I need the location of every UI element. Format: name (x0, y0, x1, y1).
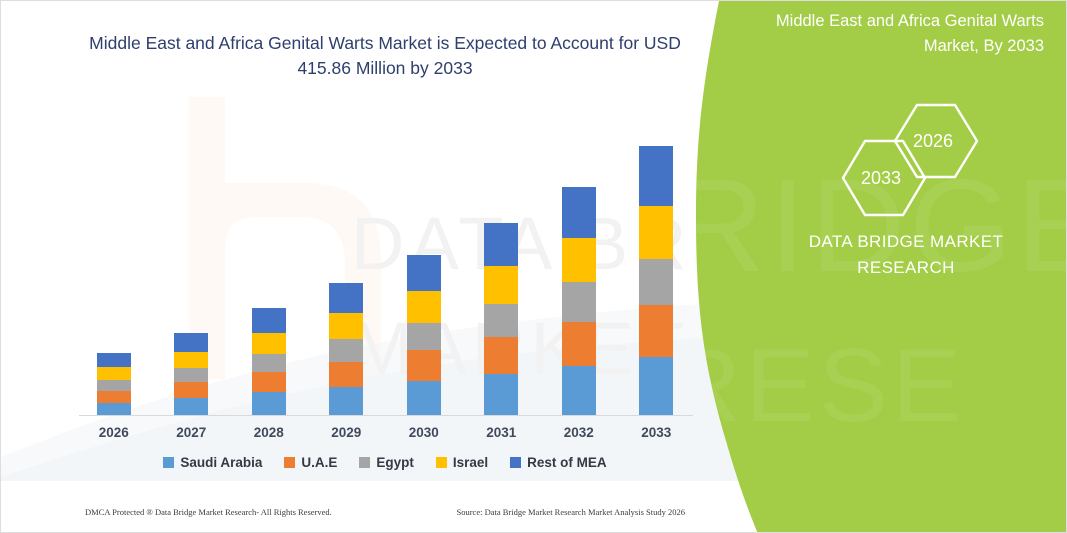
bar-segment-israel[interactable] (174, 352, 208, 369)
infographic-root: DATA BRIDGE MARKET RESEARCH Middle East … (0, 0, 1067, 533)
bar-segment-egypt[interactable] (562, 282, 596, 321)
svg-text:RESE: RESE (686, 328, 965, 444)
x-label-2027: 2027 (161, 425, 221, 440)
bar-segment-saudiarabia[interactable] (484, 374, 518, 416)
chart-legend: Saudi ArabiaU.A.EEgyptIsraelRest of MEA (75, 455, 695, 470)
x-label-2029: 2029 (316, 425, 376, 440)
legend-label: Saudi Arabia (180, 455, 262, 470)
bar-segment-saudiarabia[interactable] (329, 387, 363, 416)
brand-line-1: DATA BRIDGE MARKET (761, 229, 1051, 255)
page-title: Middle East and Africa Genital Warts Mar… (75, 31, 695, 81)
legend-swatch-icon (436, 457, 447, 468)
bar-segment-restofmea[interactable] (407, 255, 441, 291)
bar-segment-uae[interactable] (252, 372, 286, 392)
bar-stack-2031[interactable] (484, 141, 518, 416)
bar-stack-2032[interactable] (562, 141, 596, 416)
x-label-2031: 2031 (471, 425, 531, 440)
legend-label: Israel (453, 455, 488, 470)
bar-segment-saudiarabia[interactable] (174, 398, 208, 416)
bar-chart-plot (75, 141, 695, 416)
bar-segment-restofmea[interactable] (639, 146, 673, 207)
x-label-2033: 2033 (626, 425, 686, 440)
legend-item-egypt[interactable]: Egypt (359, 455, 414, 470)
bar-segment-israel[interactable] (407, 291, 441, 322)
bar-segment-restofmea[interactable] (97, 353, 131, 367)
bar-segment-restofmea[interactable] (174, 333, 208, 352)
legend-item-uae[interactable]: U.A.E (284, 455, 337, 470)
bar-segment-uae[interactable] (329, 362, 363, 387)
bar-segment-egypt[interactable] (97, 380, 131, 391)
bar-stack-2030[interactable] (407, 141, 441, 416)
legend-swatch-icon (359, 457, 370, 468)
legend-label: Rest of MEA (527, 455, 607, 470)
bar-segment-israel[interactable] (484, 266, 518, 304)
bar-segment-egypt[interactable] (407, 323, 441, 351)
bar-segment-saudiarabia[interactable] (562, 366, 596, 416)
bar-segment-egypt[interactable] (484, 304, 518, 337)
bar-segment-israel[interactable] (252, 333, 286, 354)
bar-segment-saudiarabia[interactable] (639, 357, 673, 416)
bar-stack-2028[interactable] (252, 141, 286, 416)
bar-segment-restofmea[interactable] (484, 223, 518, 266)
hexagon-2026-label: 2026 (913, 131, 953, 152)
legend-item-israel[interactable]: Israel (436, 455, 488, 470)
bar-segment-uae[interactable] (97, 391, 131, 403)
hexagon-group: 2026 2033 (821, 93, 1001, 218)
panel-title: Middle East and Africa Genital Warts Mar… (732, 9, 1044, 59)
bar-segment-egypt[interactable] (252, 354, 286, 372)
x-label-2026: 2026 (84, 425, 144, 440)
bar-segment-uae[interactable] (639, 305, 673, 357)
legend-label: Egypt (376, 455, 414, 470)
bar-segment-restofmea[interactable] (562, 187, 596, 238)
footer-source: Source: Data Bridge Market Research Mark… (456, 507, 685, 517)
bar-segment-restofmea[interactable] (329, 283, 363, 313)
bar-segment-saudiarabia[interactable] (252, 392, 286, 416)
bar-segment-uae[interactable] (407, 350, 441, 381)
bar-segment-israel[interactable] (639, 206, 673, 259)
x-axis-labels: 20262027202820292030203120322033 (75, 425, 695, 447)
bar-segment-restofmea[interactable] (252, 308, 286, 332)
footer: DMCA Protected ® Data Bridge Market Rese… (85, 507, 685, 517)
legend-item-saudiarabia[interactable]: Saudi Arabia (163, 455, 262, 470)
bar-segment-uae[interactable] (484, 337, 518, 374)
bar-stack-2027[interactable] (174, 141, 208, 416)
bar-stack-2029[interactable] (329, 141, 363, 416)
bar-segment-egypt[interactable] (639, 259, 673, 305)
legend-swatch-icon (284, 457, 295, 468)
x-label-2030: 2030 (394, 425, 454, 440)
bar-segment-israel[interactable] (562, 238, 596, 283)
bar-segment-saudiarabia[interactable] (407, 381, 441, 416)
bar-stack-2033[interactable] (639, 141, 673, 416)
legend-swatch-icon (510, 457, 521, 468)
legend-label: U.A.E (301, 455, 337, 470)
x-axis-line (79, 415, 693, 416)
legend-item-restofmea[interactable]: Rest of MEA (510, 455, 607, 470)
bar-segment-egypt[interactable] (174, 368, 208, 382)
brand-name: DATA BRIDGE MARKET RESEARCH (761, 229, 1051, 282)
footer-copyright: DMCA Protected ® Data Bridge Market Rese… (85, 507, 332, 517)
x-label-2032: 2032 (549, 425, 609, 440)
bar-stack-2026[interactable] (97, 141, 131, 416)
x-label-2028: 2028 (239, 425, 299, 440)
bar-segment-uae[interactable] (562, 322, 596, 366)
bar-segment-egypt[interactable] (329, 339, 363, 362)
hexagon-2033-label: 2033 (861, 168, 901, 189)
bar-segment-israel[interactable] (329, 313, 363, 339)
bar-segment-uae[interactable] (174, 382, 208, 398)
bar-segment-israel[interactable] (97, 367, 131, 380)
bar-segment-saudiarabia[interactable] (97, 403, 131, 416)
brand-line-2: RESEARCH (761, 255, 1051, 281)
legend-swatch-icon (163, 457, 174, 468)
